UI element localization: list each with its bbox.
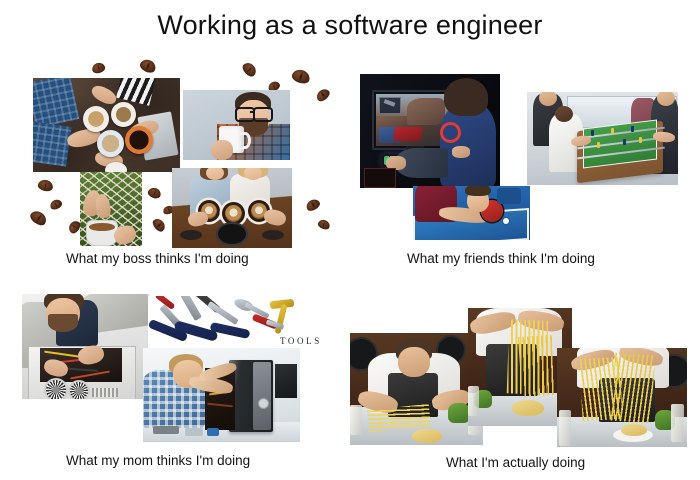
- panel-friends: What my friends think I'm doing: [355, 60, 685, 260]
- coffee-bean-icon: [290, 68, 311, 86]
- coffee-bean-icon: [49, 198, 64, 211]
- coffee-bean-icon: [304, 197, 321, 213]
- caption-friends: What my friends think I'm doing: [407, 251, 595, 266]
- tools-label: TOOLS: [280, 336, 320, 346]
- photo-man-repairing-white-pc-case: [22, 294, 150, 399]
- caption-actually: What I'm actually doing: [446, 455, 585, 470]
- photo-technician-repairing-tower: [143, 348, 300, 442]
- coffee-bean-icon: [317, 218, 331, 231]
- photo-feet-in-hammock-with-coffee: [80, 172, 142, 246]
- coffee-bean-icon: [147, 186, 163, 200]
- photo-friends-with-latte-art: [172, 168, 292, 248]
- photo-chef-lifting-spaghetti-2: [557, 348, 687, 447]
- caption-mom: What my mom thinks I'm doing: [66, 453, 250, 468]
- panel-boss: What my boss thinks I'm doing: [20, 60, 340, 260]
- caption-boss: What my boss thinks I'm doing: [66, 251, 249, 266]
- coffee-bean-icon: [138, 57, 158, 75]
- coffee-bean-icon: [151, 216, 168, 233]
- photo-bearded-man-drinking-coffee: [183, 90, 290, 160]
- meme-canvas: Working as a software engineer: [0, 0, 700, 480]
- photo-table-tennis-player: [413, 186, 530, 240]
- coffee-bean-icon: [91, 61, 106, 74]
- photo-tools-graphic: TOOLS: [148, 296, 320, 352]
- coffee-bean-icon: [37, 179, 54, 193]
- panel-mom: TOOLS What my mom thinks I'm doing: [20, 288, 340, 478]
- photo-coffee-cups-toast-overhead: [33, 78, 180, 172]
- coffee-bean-icon: [314, 87, 331, 104]
- meme-title: Working as a software engineer: [0, 10, 700, 41]
- panel-actually: What I'm actually doing: [345, 300, 700, 480]
- coffee-bean-icon: [240, 60, 258, 79]
- photo-pc-gamer-at-desk: [360, 74, 500, 188]
- photo-foosball-table-game: [527, 92, 678, 185]
- coffee-bean-icon: [28, 208, 49, 228]
- photo-chef-rolling-pasta: [350, 333, 483, 445]
